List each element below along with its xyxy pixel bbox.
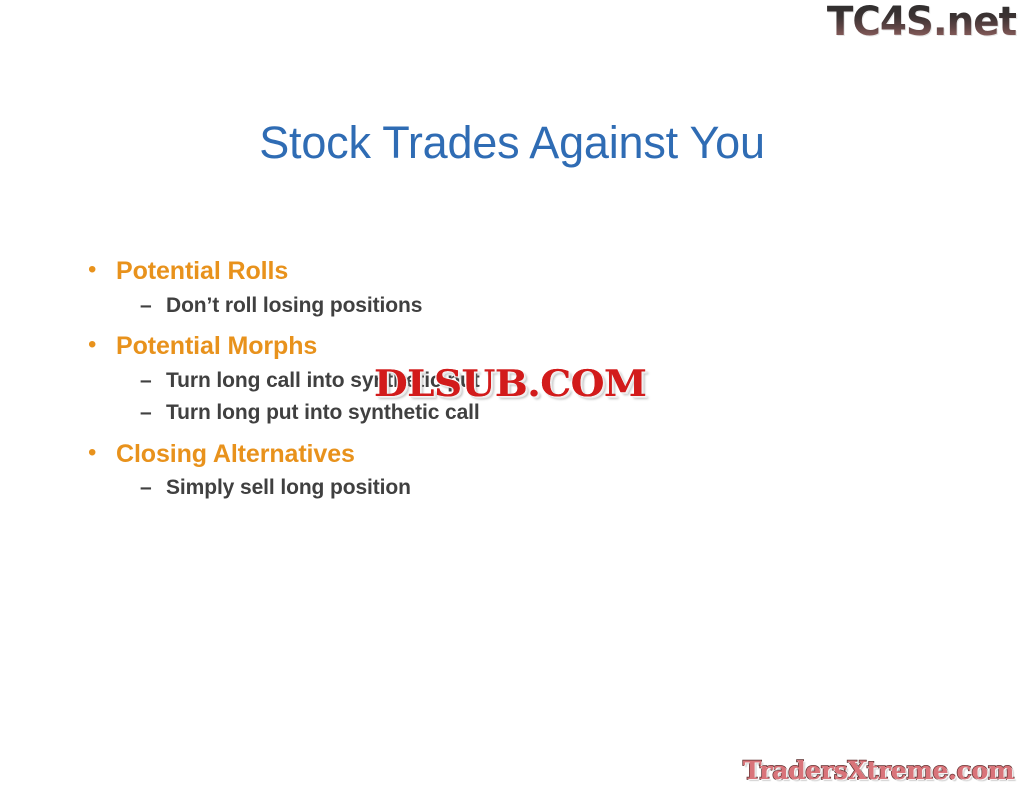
sub-bullet-item: – Don’t roll losing positions — [88, 292, 808, 320]
watermark-dlsub: DLSUB.COMDLSUB.COM — [374, 366, 646, 402]
bullet-heading: • Potential Morphs — [88, 330, 808, 364]
dash-icon: – — [140, 367, 166, 395]
watermark-dlsub-inner: DLSUB.COM — [374, 366, 646, 402]
page-title: Stock Trades Against You — [0, 118, 1024, 168]
bullet-group: • Closing Alternatives – Simply sell lon… — [88, 438, 808, 503]
sub-bullet-label: Simply sell long position — [166, 474, 411, 502]
sub-bullet-label: Don’t roll losing positions — [166, 292, 422, 320]
bullet-heading: • Potential Rolls — [88, 255, 808, 289]
watermark-tradersxtreme-inner: TradersXtreme.com — [743, 758, 1014, 783]
dash-icon: – — [140, 399, 166, 427]
bullet-group: • Potential Rolls – Don’t roll losing po… — [88, 255, 808, 320]
bullet-heading-label: Potential Rolls — [116, 255, 288, 289]
sub-bullet-item: – Simply sell long position — [88, 474, 808, 502]
bullet-dot-icon: • — [88, 258, 116, 282]
bullet-dot-icon: • — [88, 333, 116, 357]
bullet-dot-icon: • — [88, 441, 116, 465]
bullet-heading: • Closing Alternatives — [88, 438, 808, 472]
bullet-heading-label: Closing Alternatives — [116, 438, 355, 472]
bullet-heading-label: Potential Morphs — [116, 330, 317, 364]
slide-canvas: TC4S.net TC4S.net Stock Trades Against Y… — [0, 0, 1024, 791]
watermark-tradersxtreme: TradersXtreme.comTradersXtreme.com — [743, 758, 1014, 783]
dash-icon: – — [140, 474, 166, 502]
dash-icon: – — [140, 292, 166, 320]
brand-logo-tc4s: TC4S.net — [827, 2, 1016, 42]
